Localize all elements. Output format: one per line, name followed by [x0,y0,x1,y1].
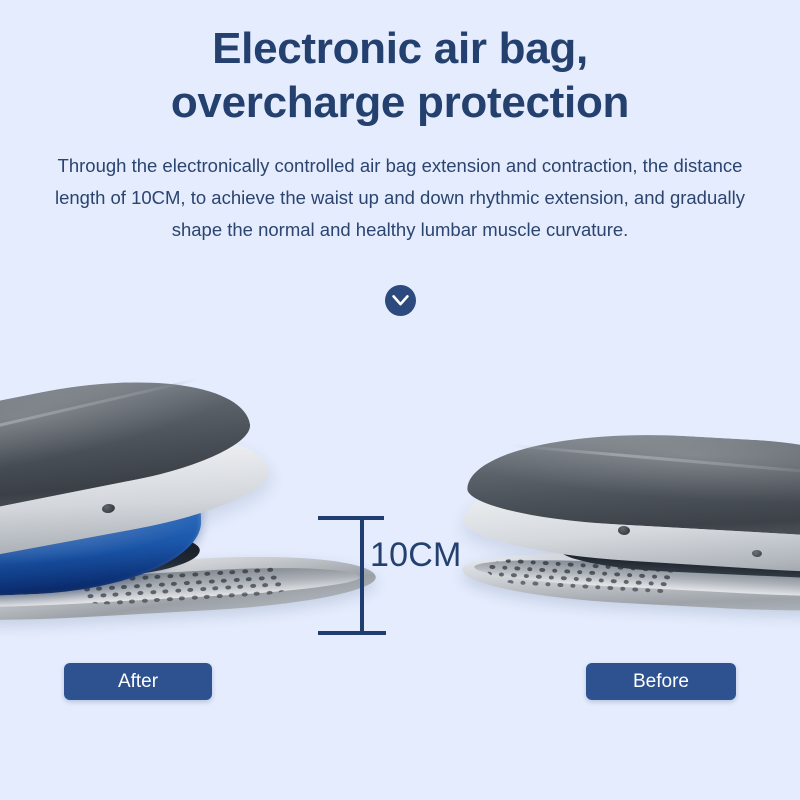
page-description: Through the electronically controlled ai… [46,150,754,245]
after-label-button[interactable]: After [64,663,212,700]
page-title: Electronic air bag, overcharge protectio… [0,22,800,129]
title-line-1: Electronic air bag, [212,24,588,73]
dimension-vertical-line [360,518,364,634]
before-label-button[interactable]: Before [586,663,736,700]
dimension-bottom-cap [318,631,386,635]
dimension-top-cap [318,516,384,520]
dimension-label: 10CM [370,536,462,575]
product-feature-page: Electronic air bag, overcharge protectio… [0,0,800,800]
dimension-callout: 10CM [318,512,468,642]
title-line-2: overcharge protection [0,76,800,130]
scroll-down-badge[interactable] [385,285,416,316]
chevron-down-icon [392,295,409,307]
device-before-collapsed [440,410,800,660]
